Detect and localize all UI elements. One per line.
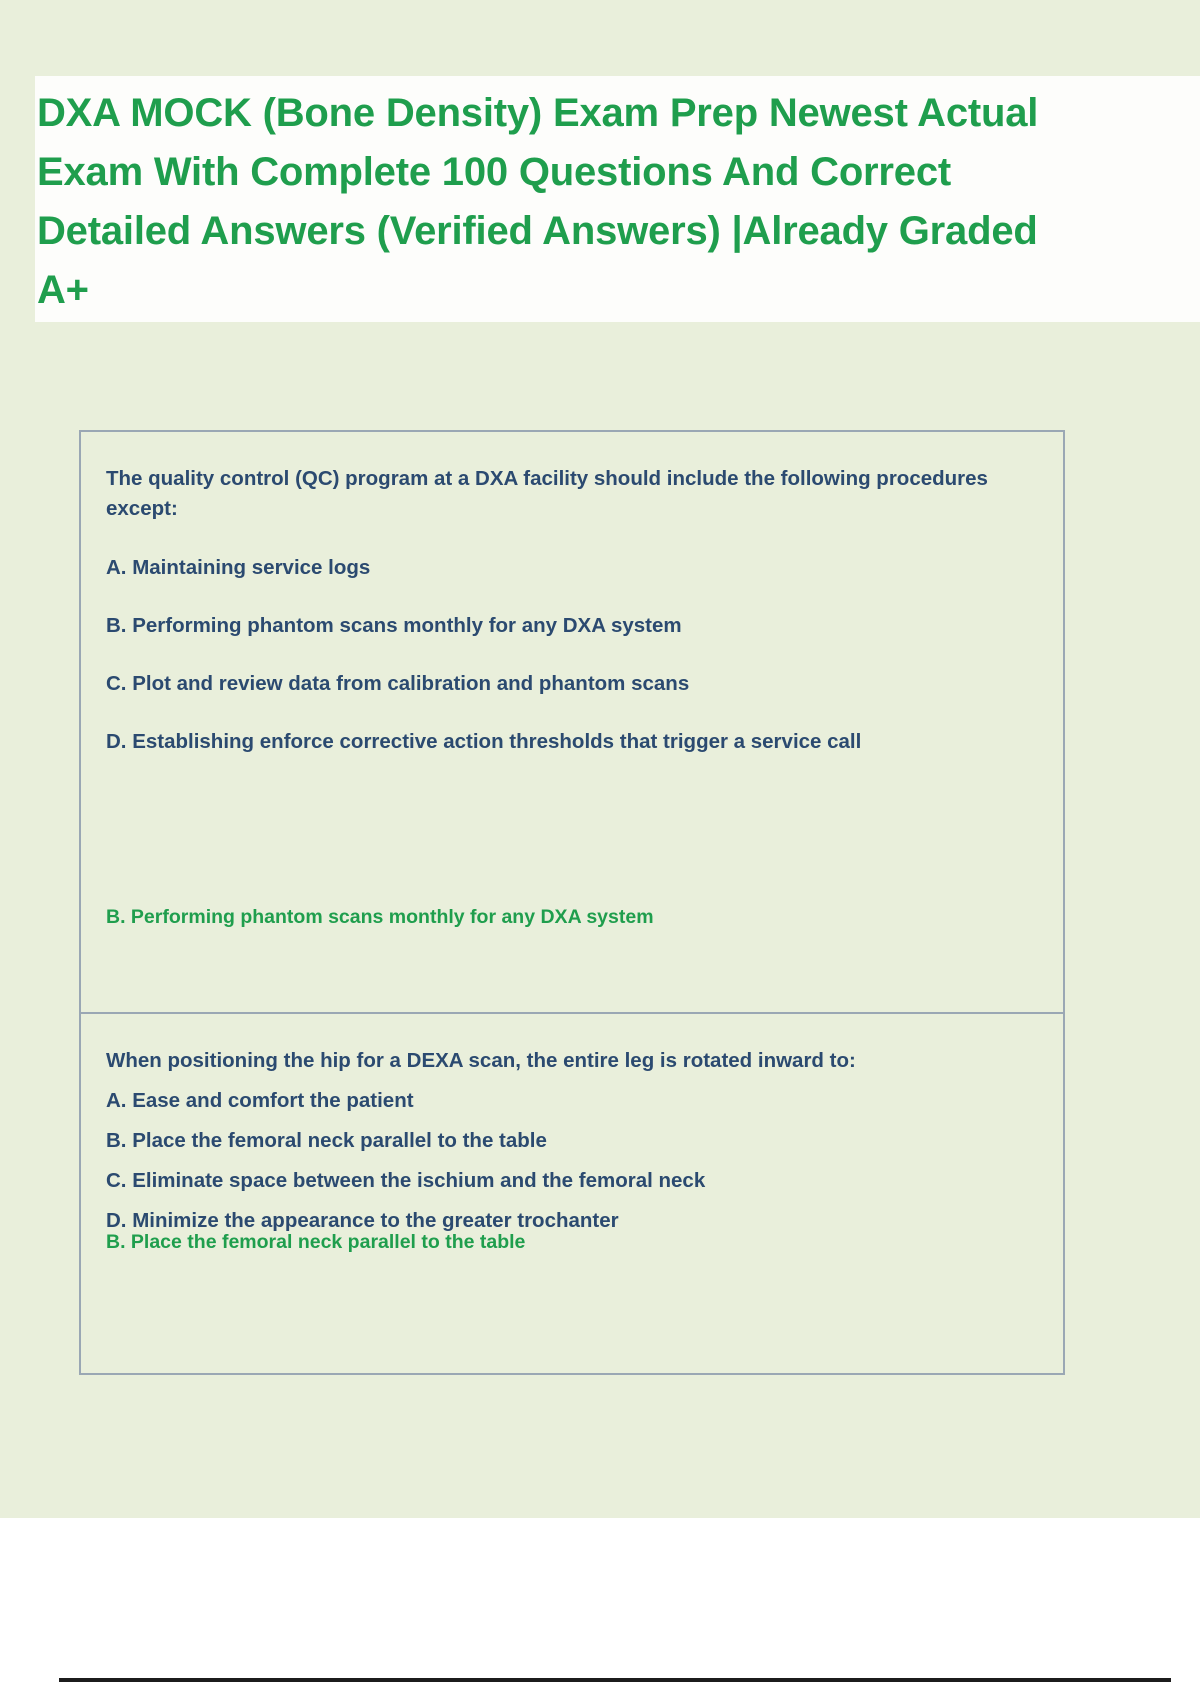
title-banner: DXA MOCK (Bone Density) Exam Prep Newest… <box>35 76 1200 322</box>
page-title: DXA MOCK (Bone Density) Exam Prep Newest… <box>37 84 1067 320</box>
question-block-1: The quality control (QC) program at a DX… <box>81 432 1063 1012</box>
question-option-d: D. Establishing enforce corrective actio… <box>106 727 1049 756</box>
question-option-c: C. Plot and review data from calibration… <box>106 669 1049 698</box>
document-page: DXA MOCK (Bone Density) Exam Prep Newest… <box>0 0 1200 1518</box>
question-answer: B. Performing phantom scans monthly for … <box>106 904 654 930</box>
question-option-c: C. Eliminate space between the ischium a… <box>106 1166 1049 1196</box>
question-stem: When positioning the hip for a DEXA scan… <box>106 1046 1049 1076</box>
question-body-1: The quality control (QC) program at a DX… <box>106 464 1049 785</box>
question-card: The quality control (QC) program at a DX… <box>79 430 1065 1375</box>
question-body-2: When positioning the hip for a DEXA scan… <box>106 1046 1049 1246</box>
question-option-a: A. Ease and comfort the patient <box>106 1086 1049 1116</box>
question-answer: B. Place the femoral neck parallel to th… <box>106 1229 525 1255</box>
question-option-b: B. Place the femoral neck parallel to th… <box>106 1126 1049 1156</box>
question-option-a: A. Maintaining service logs <box>106 553 1049 582</box>
question-stem: The quality control (QC) program at a DX… <box>106 464 1049 524</box>
footer-divider <box>59 1678 1171 1682</box>
question-block-2: When positioning the hip for a DEXA scan… <box>81 1012 1063 1375</box>
question-option-b: B. Performing phantom scans monthly for … <box>106 611 1049 640</box>
